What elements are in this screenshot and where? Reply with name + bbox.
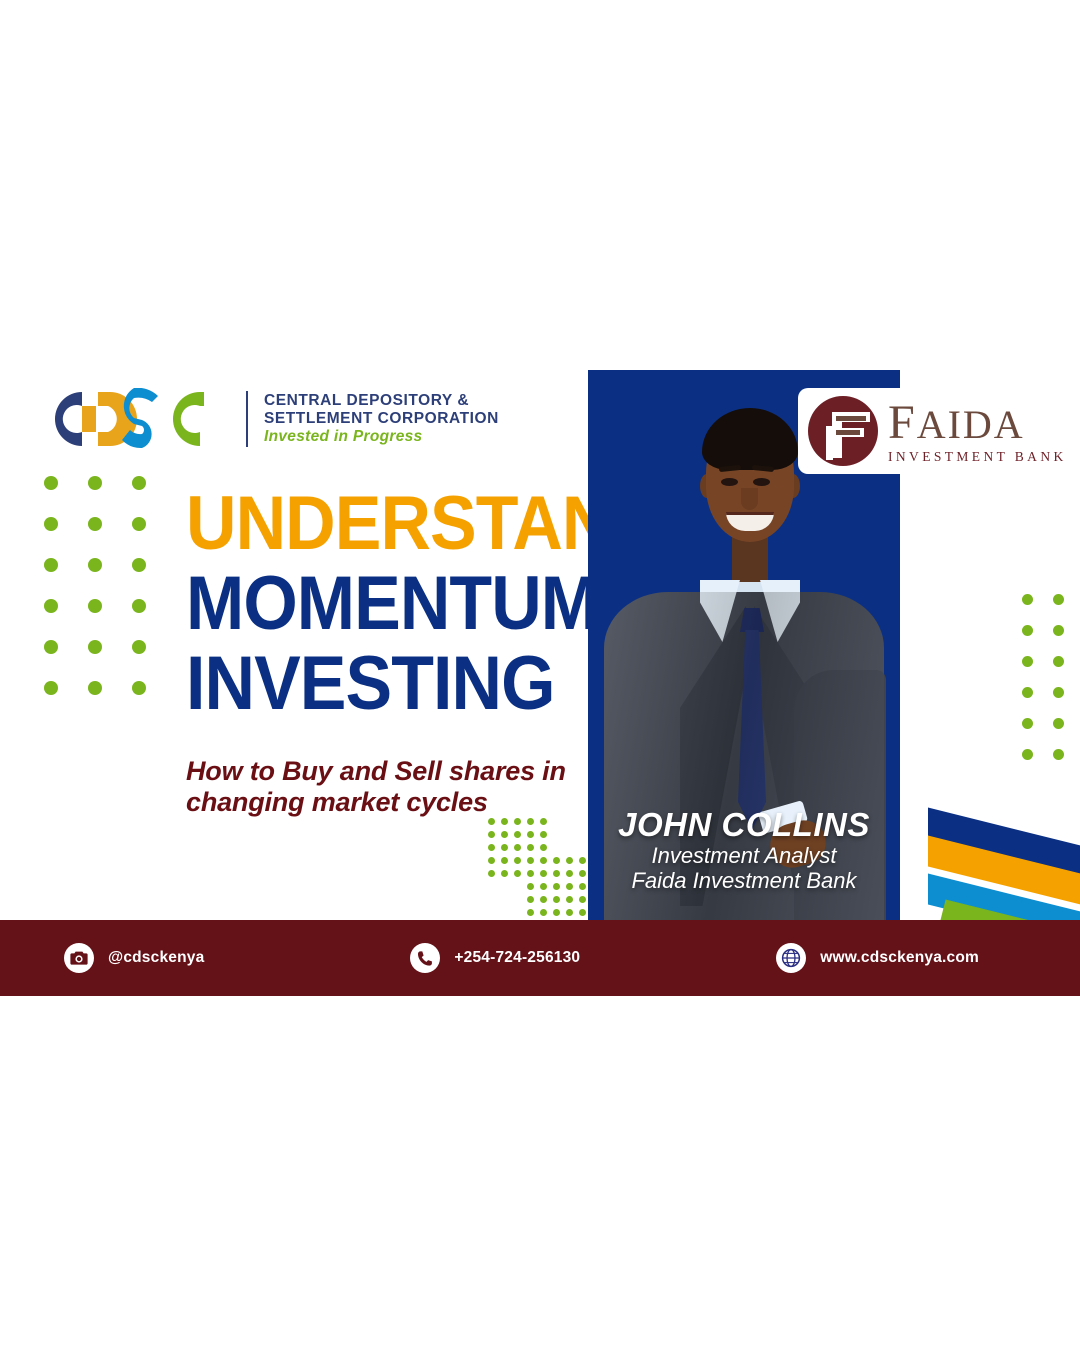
dot <box>488 818 495 825</box>
footer-instagram[interactable]: @cdsckenya <box>64 943 204 973</box>
dot <box>501 844 508 851</box>
dot <box>540 831 547 838</box>
decorative-diagonal-stripes <box>928 795 1080 923</box>
faida-subtitle: INVESTMENT BANK <box>888 450 1067 464</box>
dot <box>514 831 521 838</box>
dot <box>1022 625 1033 636</box>
dot <box>579 870 586 877</box>
dot <box>1053 718 1064 729</box>
dot <box>132 517 146 531</box>
speaker-organization: Faida Investment Bank <box>588 869 900 894</box>
dot <box>540 844 547 851</box>
dot <box>566 883 573 890</box>
dot <box>527 909 534 916</box>
dot <box>540 883 547 890</box>
dot <box>514 870 521 877</box>
decorative-dot-cluster-stair <box>488 818 592 922</box>
dot <box>1053 749 1064 760</box>
footer-phone[interactable]: +254-724-256130 <box>410 943 580 973</box>
dot <box>44 558 58 572</box>
cdsc-name-line-1: CENTRAL DEPOSITORY & <box>264 392 499 410</box>
footer-website-url: www.cdsckenya.com <box>820 949 979 967</box>
dot <box>579 857 586 864</box>
logo-divider <box>246 391 248 447</box>
dot <box>553 909 560 916</box>
dot <box>1053 656 1064 667</box>
dot <box>566 909 573 916</box>
cdsc-logo-text: CENTRAL DEPOSITORY & SETTLEMENT CORPORAT… <box>264 392 499 447</box>
dot <box>88 476 102 490</box>
dot <box>132 599 146 613</box>
dot <box>527 831 534 838</box>
faida-logomark-icon <box>808 396 878 466</box>
dot <box>44 640 58 654</box>
dot <box>88 517 102 531</box>
dot <box>88 681 102 695</box>
dot <box>553 870 560 877</box>
dot <box>514 818 521 825</box>
dot <box>553 883 560 890</box>
dot <box>501 870 508 877</box>
faida-name: FAIDA <box>888 399 1067 447</box>
dot <box>527 857 534 864</box>
footer-contact-bar: @cdsckenya +254-724-256130 www.cdsck <box>0 920 1080 996</box>
dot <box>88 599 102 613</box>
dot <box>1022 718 1033 729</box>
speaker-name: JOHN COLLINS <box>588 806 900 844</box>
dot <box>579 883 586 890</box>
dot <box>579 896 586 903</box>
dot <box>501 831 508 838</box>
dot <box>488 844 495 851</box>
speaker-caption: JOHN COLLINS Investment Analyst Faida In… <box>588 806 900 893</box>
dot <box>540 896 547 903</box>
dot <box>488 870 495 877</box>
dot <box>540 870 547 877</box>
dot <box>1022 594 1033 605</box>
dot <box>132 681 146 695</box>
dot <box>88 558 102 572</box>
dot <box>1053 594 1064 605</box>
dot <box>488 831 495 838</box>
cdsc-logomark-icon <box>52 388 230 450</box>
dot <box>501 818 508 825</box>
faida-name-rest: AIDA <box>917 402 1025 447</box>
dot <box>553 857 560 864</box>
speaker-role: Investment Analyst <box>588 844 900 869</box>
faida-logo: FAIDA INVESTMENT BANK <box>798 388 1080 474</box>
dot <box>44 681 58 695</box>
phone-icon <box>410 943 440 973</box>
dot <box>527 883 534 890</box>
dot <box>501 857 508 864</box>
decorative-dot-grid-left <box>44 476 176 722</box>
dot <box>514 844 521 851</box>
dot <box>553 896 560 903</box>
dot <box>132 640 146 654</box>
dot <box>514 857 521 864</box>
dot <box>527 870 534 877</box>
dot <box>488 857 495 864</box>
dot <box>527 844 534 851</box>
dot <box>1053 625 1064 636</box>
dot <box>1022 656 1033 667</box>
subtitle: How to Buy and Sell shares in changing m… <box>186 756 576 819</box>
dot <box>540 857 547 864</box>
footer-website[interactable]: www.cdsckenya.com <box>776 943 979 973</box>
poster-canvas: CENTRAL DEPOSITORY & SETTLEMENT CORPORAT… <box>0 0 1080 1350</box>
dot <box>1022 687 1033 698</box>
dot <box>579 909 586 916</box>
cdsc-tagline: Invested in Progress <box>264 428 499 446</box>
dot <box>132 476 146 490</box>
footer-instagram-handle: @cdsckenya <box>108 949 204 967</box>
dot <box>527 818 534 825</box>
camera-icon <box>64 943 94 973</box>
dot <box>132 558 146 572</box>
decorative-dot-grid-right <box>1022 594 1080 780</box>
globe-icon <box>776 943 806 973</box>
dot <box>88 640 102 654</box>
dot <box>44 517 58 531</box>
dot <box>1053 687 1064 698</box>
dot <box>44 599 58 613</box>
dot <box>540 818 547 825</box>
faida-logo-text: FAIDA INVESTMENT BANK <box>888 399 1067 464</box>
cdsc-name-line-2: SETTLEMENT CORPORATION <box>264 410 499 428</box>
dot <box>527 896 534 903</box>
dot <box>540 909 547 916</box>
dot <box>566 857 573 864</box>
dot <box>1022 749 1033 760</box>
dot <box>566 896 573 903</box>
dot <box>566 870 573 877</box>
cdsc-logo: CENTRAL DEPOSITORY & SETTLEMENT CORPORAT… <box>52 388 499 450</box>
footer-phone-number: +254-724-256130 <box>454 949 580 967</box>
faida-name-initial: F <box>888 396 917 449</box>
dot <box>44 476 58 490</box>
